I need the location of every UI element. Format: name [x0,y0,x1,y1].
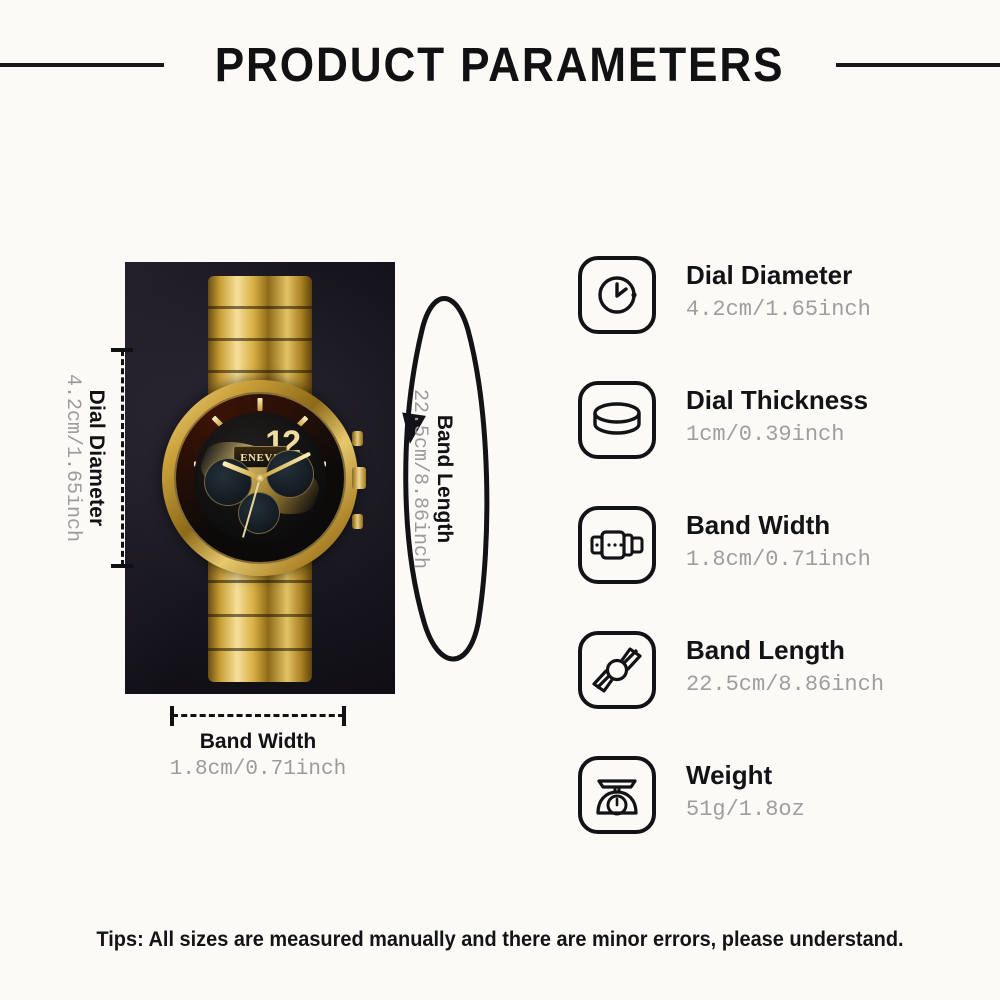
spec-text-weight: Weight 51g/1.8oz [686,756,805,822]
band-length-callout: Band Length 22.5cm/8.86inch [398,272,490,686]
spec-list: Dial Diameter 4.2cm/1.65inch Dial Thickn… [578,256,978,881]
watch-dial: 12 ENEVA [194,412,326,544]
page-title: PRODUCT PARAMETERS [215,38,785,93]
band-width-callout-value: 1.8cm/0.71inch [168,758,348,781]
spec-text-dial-thickness: Dial Thickness 1cm/0.39inch [686,381,868,447]
band-width-callout: Band Width 1.8cm/0.71inch [168,704,348,781]
spec-value-weight: 51g/1.8oz [686,797,805,822]
dial-diameter-cap-top [111,348,133,352]
header-rule-right [836,63,1000,67]
band-length-callout-value: 22.5cm/8.86inch [408,389,431,569]
band-width-dimension-line [168,704,348,726]
spec-value-dial-diameter: 4.2cm/1.65inch [686,297,871,322]
spec-row-dial-diameter: Dial Diameter 4.2cm/1.65inch [578,256,978,381]
band-width-callout-label: Band Width [168,730,348,754]
spec-label-dial-thickness: Dial Thickness [686,387,868,414]
spec-row-band-width: Band Width 1.8cm/0.71inch [578,506,978,631]
watch-diagonal-icon [578,631,656,709]
watch-crown [352,467,366,489]
spec-text-band-width: Band Width 1.8cm/0.71inch [686,506,871,572]
watch-pusher-bottom [352,514,363,529]
band-width-cap-right [342,706,346,726]
dial-diameter-callout: Dial Diameter 4.2cm/1.65inch [44,344,124,572]
dial-diameter-cap-bottom [111,564,133,568]
spec-text-band-length: Band Length 22.5cm/8.86inch [686,631,884,697]
header-rule-left [0,63,164,67]
watch-photo: 12 ENEVA [125,262,395,694]
tips-note: Tips: All sizes are measured manually an… [25,928,975,952]
spec-row-weight: Weight 51g/1.8oz [578,756,978,881]
cylinder-icon [578,381,656,459]
watch-strap-icon [578,506,656,584]
band-length-callout-label: Band Length [432,415,456,543]
spec-label-band-width: Band Width [686,512,871,539]
dial-diameter-dimension-line [121,350,124,566]
dial-center-pin [256,474,265,483]
dial-diameter-callout-value: 4.2cm/1.65inch [61,374,84,542]
spec-value-band-width: 1.8cm/0.71inch [686,547,871,572]
spec-text-dial-diameter: Dial Diameter 4.2cm/1.65inch [686,256,871,322]
spec-row-dial-thickness: Dial Thickness 1cm/0.39inch [578,381,978,506]
kitchen-scale-icon [578,756,656,834]
dial-diameter-callout-label: Dial Diameter [84,390,108,527]
page-header: PRODUCT PARAMETERS [0,30,1000,100]
watch-case: 12 ENEVA [162,380,358,576]
spec-label-dial-diameter: Dial Diameter [686,262,871,289]
product-photo-block: 12 ENEVA [125,262,395,694]
spec-row-band-length: Band Length 22.5cm/8.86inch [578,631,978,756]
watch-pusher-top [352,431,363,446]
spec-label-weight: Weight [686,762,805,789]
spec-value-band-length: 22.5cm/8.86inch [686,672,884,697]
clock-icon [578,256,656,334]
spec-value-dial-thickness: 1cm/0.39inch [686,422,868,447]
band-width-dashed-line [172,714,344,717]
spec-label-band-length: Band Length [686,637,884,664]
